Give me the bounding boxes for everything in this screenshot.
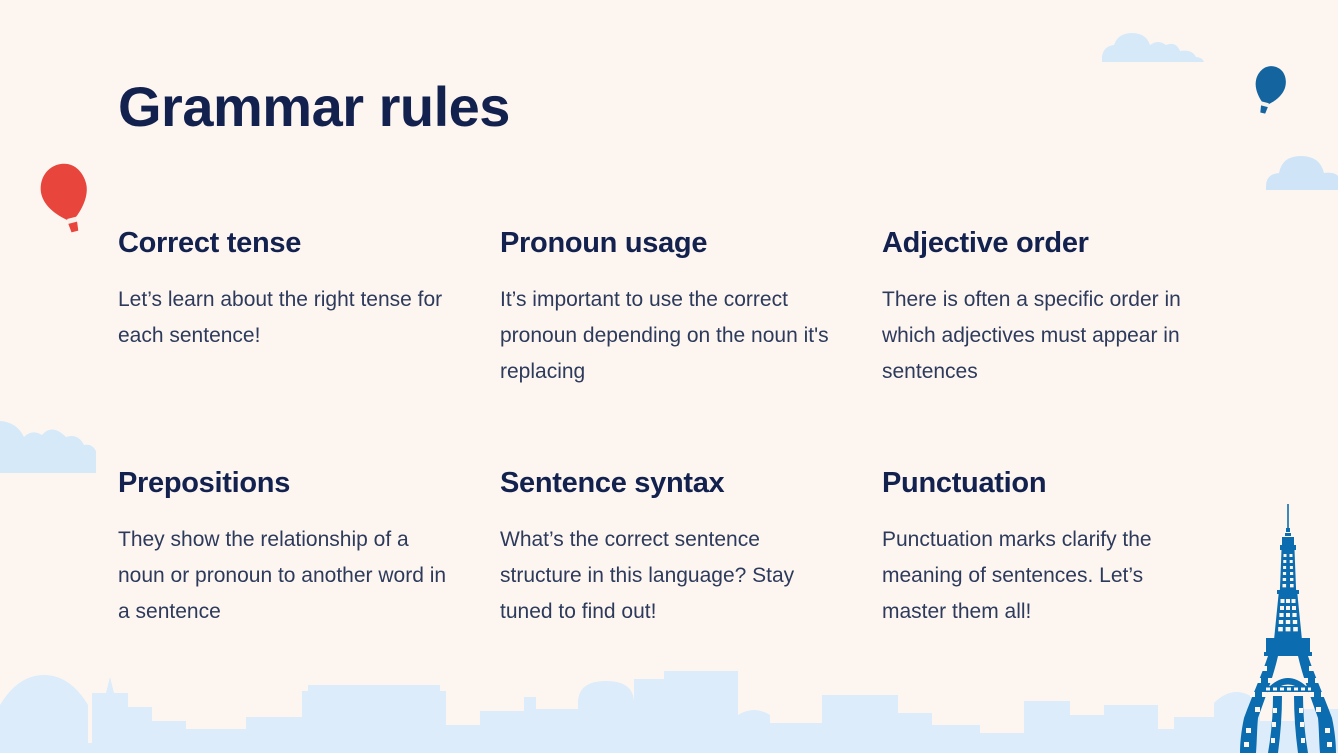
rule-body: There is often a specific order in which… [882, 282, 1207, 390]
rule-card-sentence-syntax: Sentence syntax What’s the correct sente… [500, 468, 882, 630]
rule-card-correct-tense: Correct tense Let’s learn about the righ… [118, 228, 500, 468]
rule-heading: Adjective order [882, 228, 1234, 260]
rule-body: Let’s learn about the right tense for ea… [118, 282, 448, 354]
rule-heading: Pronoun usage [500, 228, 882, 260]
rule-body: It’s important to use the correct pronou… [500, 282, 830, 390]
rule-heading: Correct tense [118, 228, 500, 260]
rule-card-punctuation: Punctuation Punctuation marks clarify th… [882, 468, 1234, 630]
red-hot-air-balloon-icon [36, 160, 92, 240]
blue-hot-air-balloon-icon [1252, 64, 1288, 116]
rule-heading: Punctuation [882, 468, 1234, 500]
rule-card-pronoun-usage: Pronoun usage It’s important to use the … [500, 228, 882, 468]
rule-body: Punctuation marks clarify the meaning of… [882, 522, 1207, 630]
rule-heading: Sentence syntax [500, 468, 882, 500]
city-skyline-silhouette [0, 633, 1338, 753]
cloud-icon [0, 415, 122, 475]
eiffel-tower-icon [1240, 500, 1336, 753]
page-title: Grammar rules [118, 76, 510, 138]
rule-body: What’s the correct sentence structure in… [500, 522, 830, 630]
grammar-rules-grid: Correct tense Let’s learn about the righ… [118, 228, 1234, 630]
rule-body: They show the relationship of a noun or … [118, 522, 448, 630]
rule-heading: Prepositions [118, 468, 500, 500]
cloud-icon [1262, 146, 1338, 194]
slide-canvas: Grammar rules Correct tense Let’s learn … [0, 0, 1338, 753]
rule-card-adjective-order: Adjective order There is often a specifi… [882, 228, 1234, 468]
rule-card-prepositions: Prepositions They show the relationship … [118, 468, 500, 630]
cloud-icon [1098, 22, 1218, 66]
